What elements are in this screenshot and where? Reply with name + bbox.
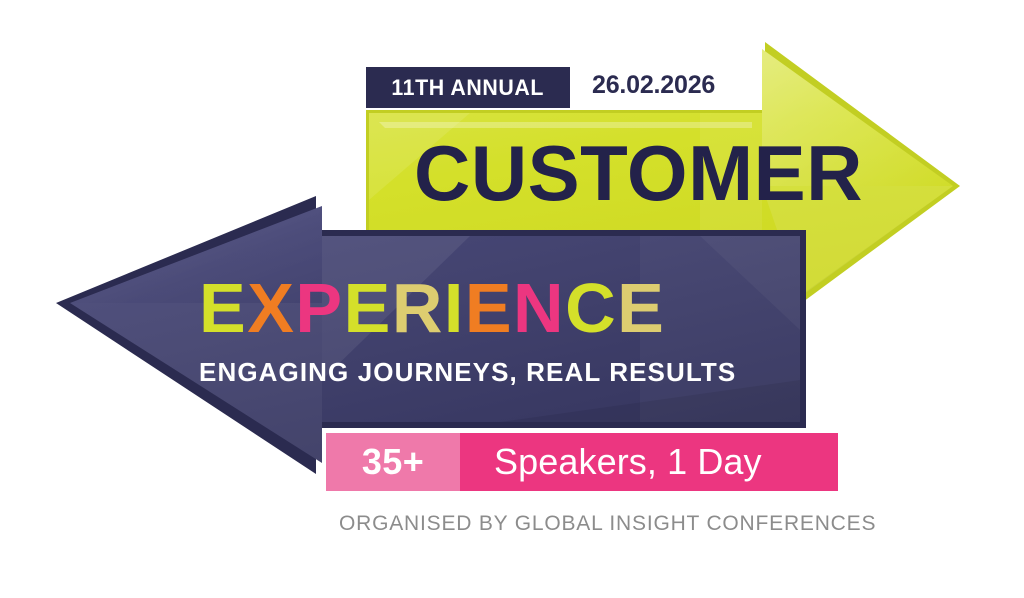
organiser-credit: ORGANISED BY GLOBAL INSIGHT CONFERENCES (339, 512, 876, 536)
headline-word-experience: EXPERIENCE (199, 273, 665, 343)
headline-letter-0: E (199, 273, 247, 343)
headline-letter-7: N (513, 273, 565, 343)
headline-word-customer: CUSTOMER (414, 134, 863, 212)
headline-letter-4: R (392, 273, 444, 343)
speakers-label: Speakers, 1 Day (460, 433, 838, 491)
headline-tagline: ENGAGING JOURNEYS, REAL RESULTS (199, 357, 736, 388)
headline-letter-5: I (444, 273, 465, 343)
event-date: 26.02.2026 (592, 71, 715, 100)
headline-letter-1: X (247, 273, 295, 343)
headline-letter-2: P (295, 273, 343, 343)
event-logo-banner: 11TH ANNUAL 26.02.2026 CUSTOMER EXPERIEN… (0, 0, 1024, 598)
headline-letter-3: E (344, 273, 392, 343)
headline-letter-6: E (465, 273, 513, 343)
speakers-banner: 35+ Speakers, 1 Day (326, 433, 838, 491)
headline-letter-9: E (617, 273, 665, 343)
headline-letter-8: C (565, 273, 617, 343)
annual-edition-badge: 11TH ANNUAL (366, 67, 570, 108)
speakers-count: 35+ (326, 433, 460, 491)
annual-edition-label: 11TH ANNUAL (392, 75, 545, 101)
